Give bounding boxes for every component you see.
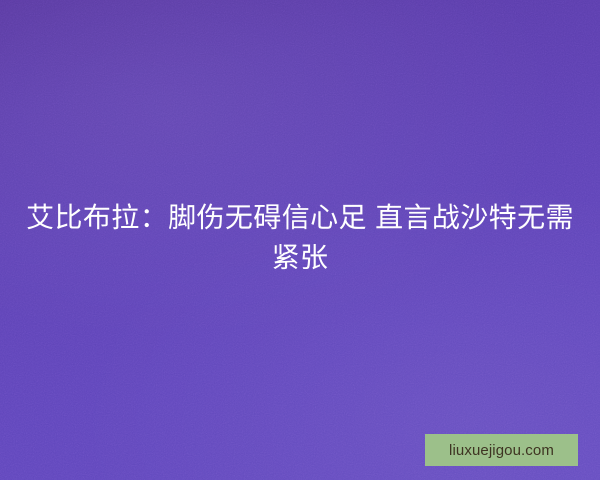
image-canvas: 艾比布拉：脚伤无碍信心足 直言战沙特无需紧张 liuxuejigou.com [0,0,600,480]
watermark-label: liuxuejigou.com [449,443,554,458]
page-title: 艾比布拉：脚伤无碍信心足 直言战沙特无需紧张 [22,198,578,278]
watermark-badge: liuxuejigou.com [425,434,578,466]
